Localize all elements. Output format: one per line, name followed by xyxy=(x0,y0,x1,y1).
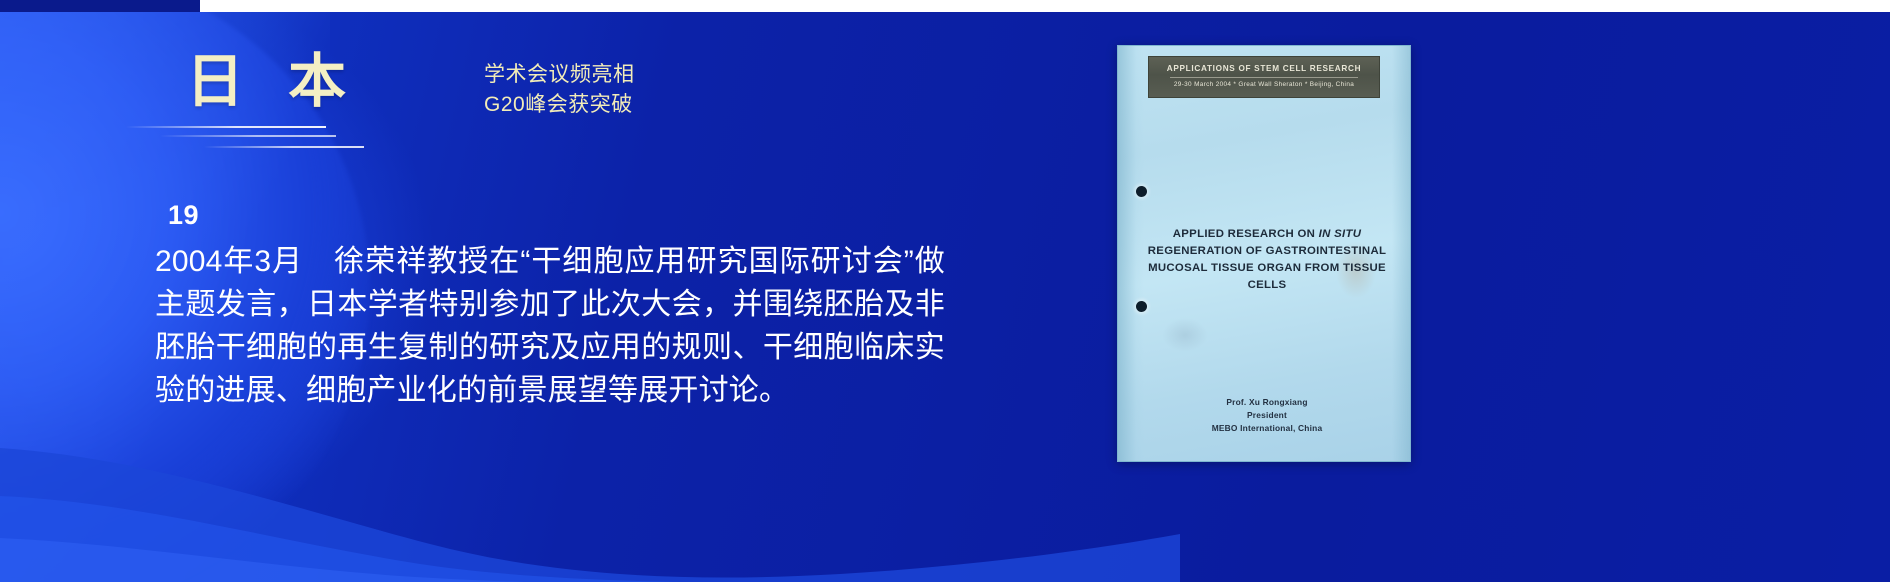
document-footer-signature: Prof. Xu Rongxiang President MEBO Intern… xyxy=(1138,396,1396,435)
title-rule-2 xyxy=(160,135,336,137)
document-banner-subtitle: 29-30 March 2004 * Great Wall Sheraton *… xyxy=(1155,81,1373,89)
subtitle-line-2: G20峰会获突破 xyxy=(484,90,635,120)
item-index-number: 19 xyxy=(168,200,199,231)
title-rule-1 xyxy=(126,126,326,128)
document-title-line-1-italic: IN SITU xyxy=(1319,228,1362,240)
document-footer-role: President xyxy=(1138,409,1396,422)
title-rule-3 xyxy=(204,146,364,148)
document-header-banner: APPLICATIONS OF STEM CELL RESEARCH 29-30… xyxy=(1148,56,1380,98)
paper-stain-decoration xyxy=(1162,318,1208,352)
title-underline-decoration xyxy=(186,126,486,162)
heading-block: 日 本 xyxy=(186,52,486,113)
subtitle-block: 学术会议频亮相 G20峰会获突破 xyxy=(484,60,635,120)
document-banner-title: APPLICATIONS OF STEM CELL RESEARCH xyxy=(1155,64,1373,74)
document-banner-divider xyxy=(1170,77,1357,78)
document-title-line-2: REGENERATION OF GASTROINTESTINAL xyxy=(1148,245,1386,257)
document-title-line-1: APPLIED RESEARCH ON xyxy=(1173,228,1315,240)
punch-hole-icon xyxy=(1136,186,1147,197)
page-title: 日 本 xyxy=(186,52,486,113)
body-paragraph: 2004年3月 徐荣祥教授在“干细胞应用研究国际研讨会”做主题发言，日本学者特别… xyxy=(155,240,945,412)
subtitle-line-1: 学术会议频亮相 xyxy=(484,60,635,90)
document-footer-name: Prof. Xu Rongxiang xyxy=(1138,396,1396,409)
scanned-document-photo: APPLICATIONS OF STEM CELL RESEARCH 29-30… xyxy=(1117,45,1411,462)
document-body-title: APPLIED RESEARCH ON IN SITU REGENERATION… xyxy=(1138,226,1396,294)
slide-canvas: 日 本 学术会议频亮相 G20峰会获突破 19 2004年3月 徐荣祥教授在“干… xyxy=(0,0,1890,582)
document-footer-org: MEBO International, China xyxy=(1138,422,1396,435)
top-bar-white-segment xyxy=(200,0,1890,12)
punch-hole-icon xyxy=(1136,301,1147,312)
top-bar-left-segment xyxy=(0,0,200,12)
document-title-line-4: CELLS xyxy=(1248,279,1287,291)
document-title-line-3: MUCOSAL TISSUE ORGAN FROM TISSUE xyxy=(1148,262,1386,274)
